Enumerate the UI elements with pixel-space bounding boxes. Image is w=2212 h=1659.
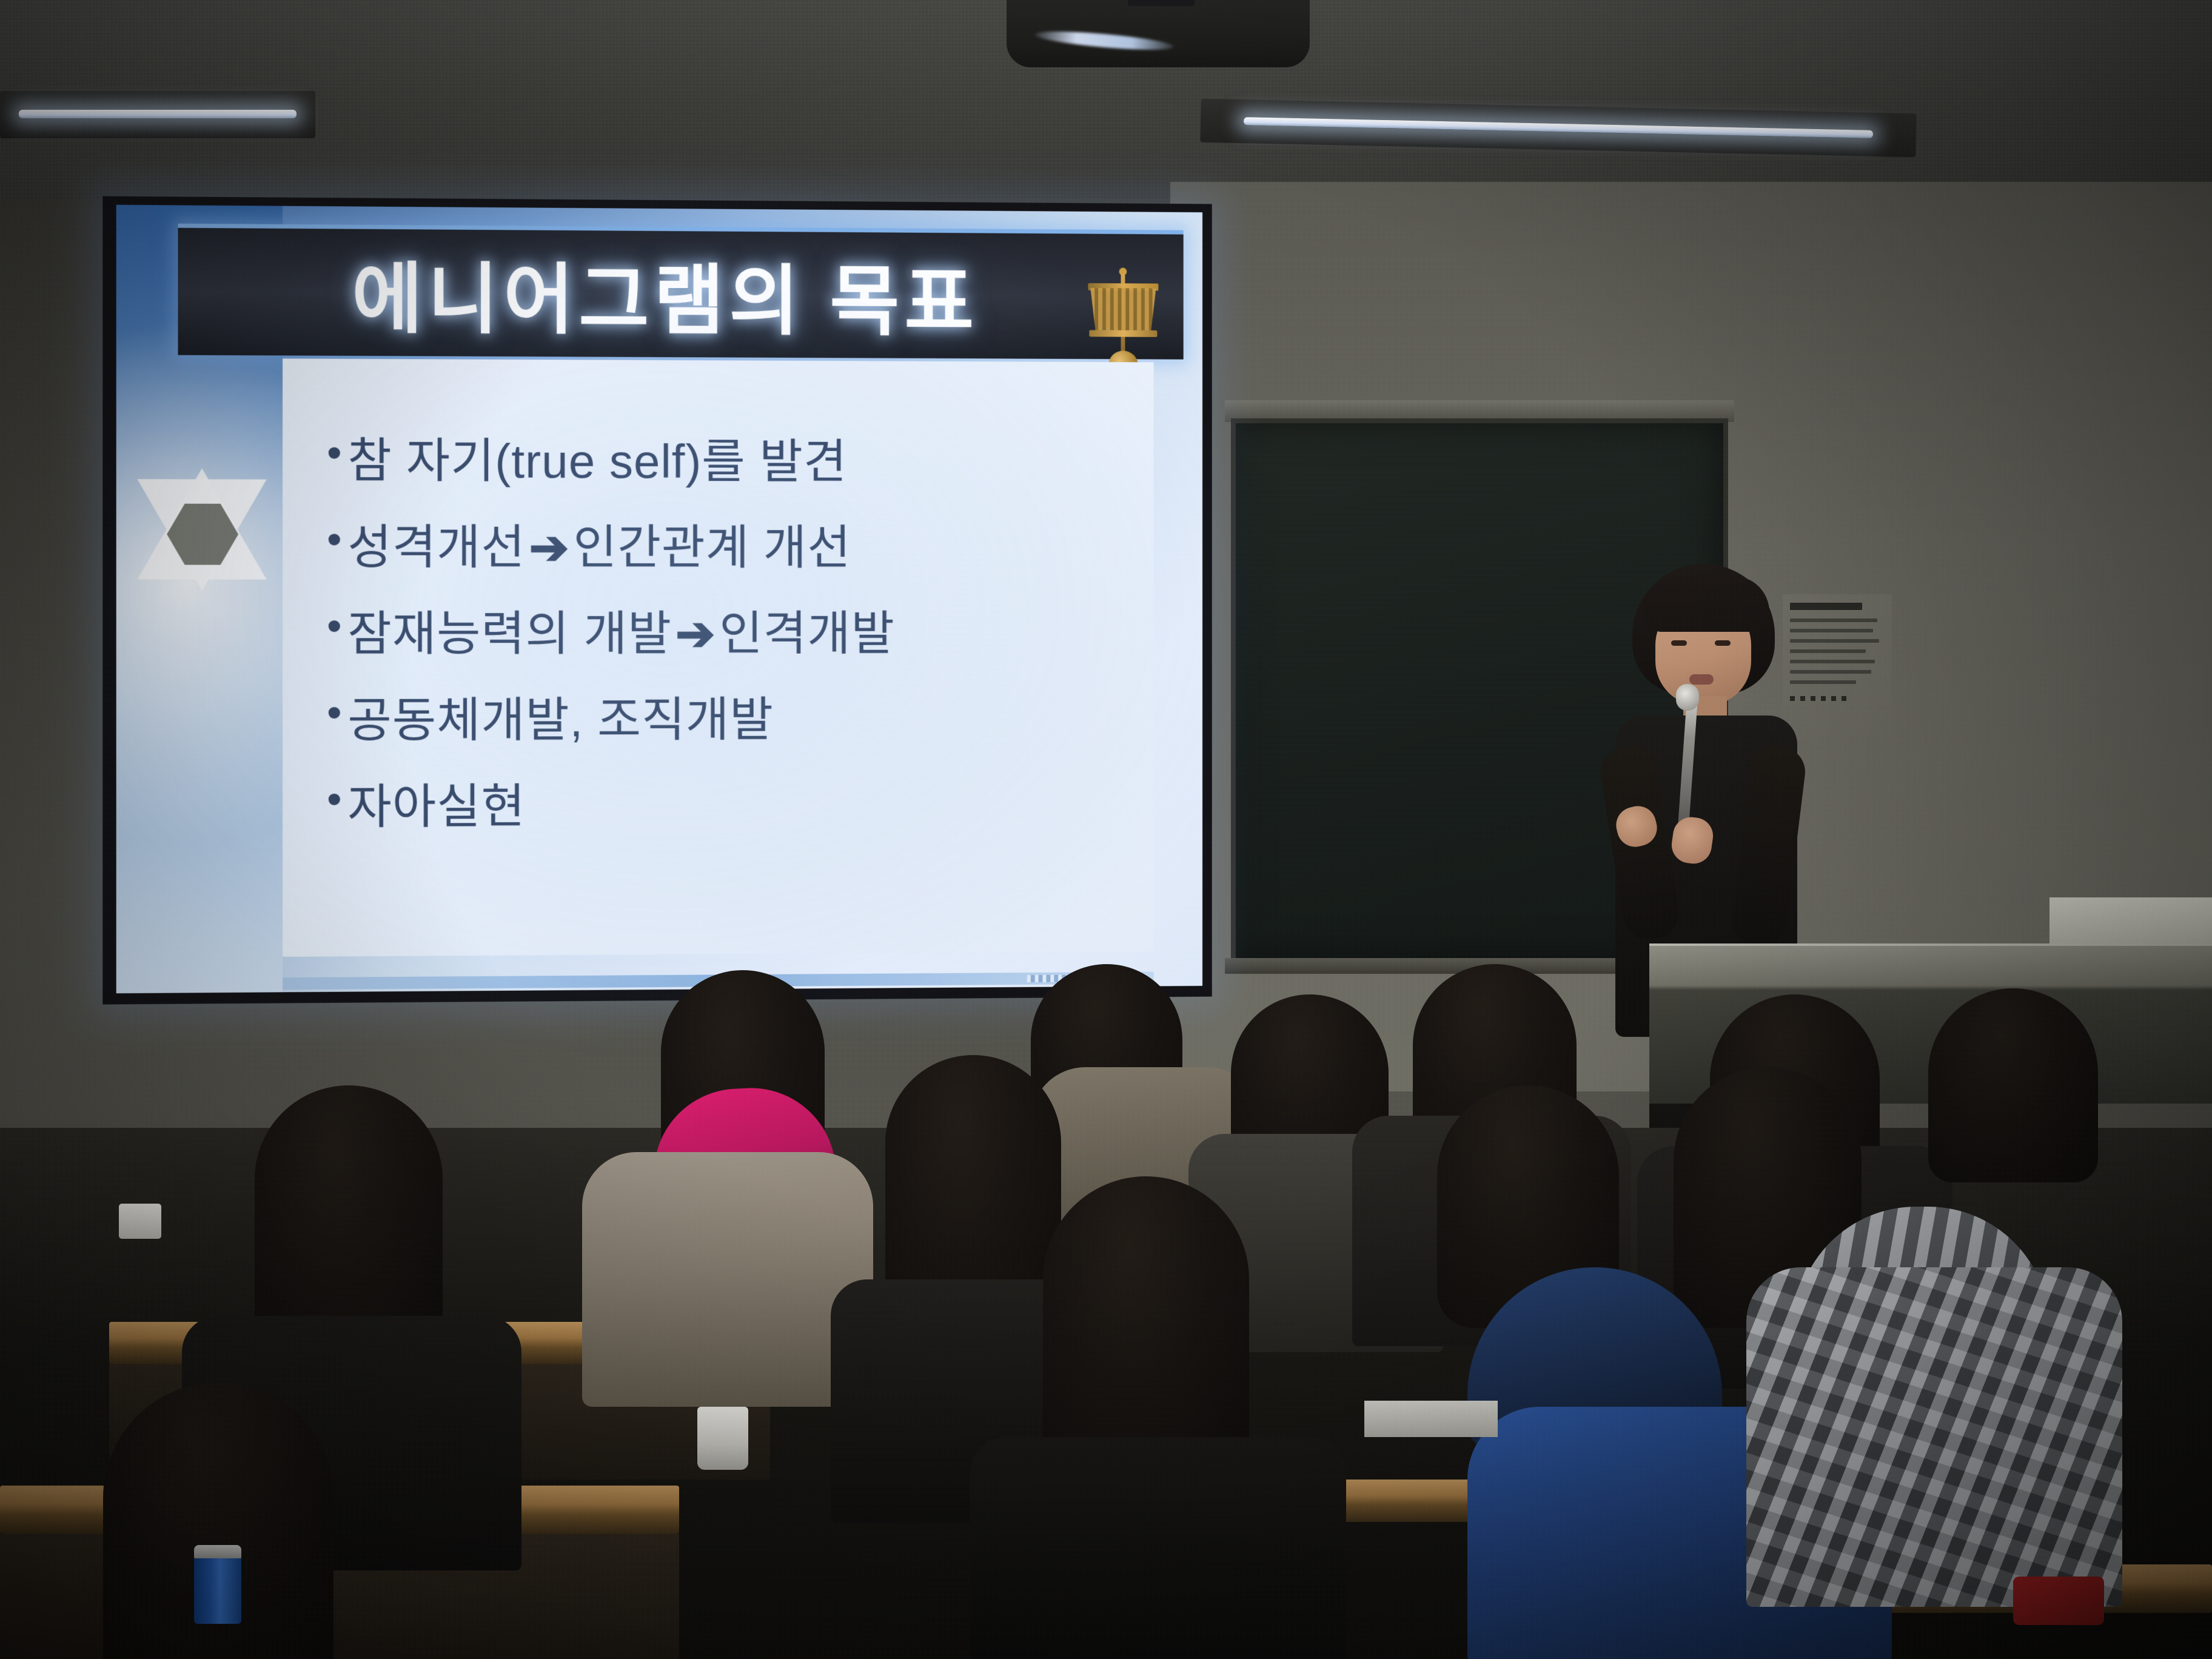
bullet-text-post: 인격개발 <box>719 607 894 660</box>
audience-jacket-patterned <box>1746 1267 2122 1607</box>
projection-screen: 에니어그램의 목표 • 참 자기(true self)를 발견 • <box>102 196 1212 1004</box>
presenter-mouth <box>1689 674 1714 685</box>
arrow-right-icon: ➔ <box>672 607 719 660</box>
presenter-eye-left <box>1671 640 1687 646</box>
bullet-text-pre: 잠재능력의 개발 <box>347 607 672 661</box>
audience-head <box>1928 988 2098 1182</box>
bullet-marker-icon: • <box>327 610 347 642</box>
bullet-marker-icon: • <box>327 783 347 816</box>
bullet-text: 참 자기(true self)를 발견 <box>347 437 847 486</box>
paper-cup-left <box>119 1204 161 1239</box>
bullet-marker-icon: • <box>327 697 347 729</box>
beverage-can-top <box>194 1545 241 1558</box>
bullet-marker-icon: • <box>327 523 347 555</box>
beverage-can <box>194 1552 241 1624</box>
slide-bullet: • 참 자기(true self)를 발견 <box>327 437 1154 486</box>
red-bag-item <box>2013 1577 2104 1625</box>
slide-surface: 에니어그램의 목표 • 참 자기(true self)를 발견 • <box>116 205 1202 993</box>
bullet-text: 성격개선➔인간관계 개선 <box>347 523 851 571</box>
bullet-text: 잠재능력의 개발➔인격개발 <box>347 610 894 658</box>
paper-sheet <box>1364 1401 1498 1437</box>
bullet-text-pre: 성격개선 <box>347 520 525 574</box>
audience-head <box>1043 1176 1249 1480</box>
lecture-hall-scene: 에니어그램의 목표 • 참 자기(true self)를 발견 • <box>0 0 2212 1659</box>
slide-title-bar: 에니어그램의 목표 <box>178 224 1184 360</box>
audience-body <box>970 1437 1346 1659</box>
slide-bullet: • 성격개선➔인간관계 개선 <box>327 523 1154 571</box>
slide-bullet: • 공동체개발, 조직개발 <box>327 695 1154 745</box>
audience-jacket-beige <box>582 1152 873 1407</box>
slide-body: • 참 자기(true self)를 발견 • 성격개선➔인간관계 개선 • 잠… <box>283 358 1154 957</box>
hexagram-star-icon <box>137 468 266 591</box>
fluorescent-light-left <box>0 91 315 138</box>
bullet-text: 자아실현 <box>347 783 525 831</box>
ornament-body <box>1090 288 1156 333</box>
slide-title: 에니어그램의 목표 <box>352 237 979 351</box>
slide-bullet: • 자아실현 <box>327 780 1154 831</box>
microphone-head-icon <box>1676 684 1699 711</box>
bullet-text-post: 인간관계 개선 <box>573 521 851 574</box>
projector-lens-icon <box>1034 28 1174 53</box>
projector-mount <box>1128 0 1195 6</box>
presenter-fringe <box>1642 576 1769 632</box>
light-tube-icon <box>19 110 297 118</box>
ceiling-projector <box>1007 0 1310 67</box>
light-tube-icon <box>1244 117 1873 138</box>
paper-cup <box>697 1407 748 1470</box>
bullet-marker-icon: • <box>327 437 347 469</box>
presenter-eye-right <box>1715 640 1731 646</box>
arrow-right-icon: ➔ <box>526 521 574 574</box>
ornament-base-plate <box>1089 330 1157 337</box>
bullet-text: 공동체개발, 조직개발 <box>347 696 773 745</box>
slide-bullet: • 잠재능력의 개발➔인격개발 <box>327 610 1154 658</box>
